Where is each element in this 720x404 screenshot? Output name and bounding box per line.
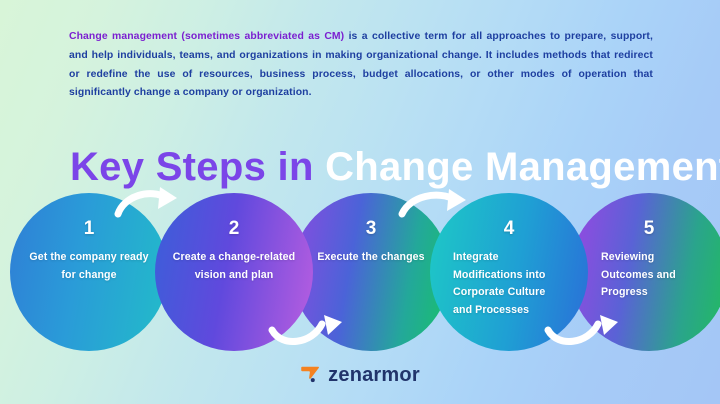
infographic-canvas: Change management (sometimes abbreviated… [0, 0, 720, 404]
step-number-3: 3 [366, 219, 377, 239]
step-label-1: Get the company ready for change [26, 249, 152, 284]
step-circle-1[interactable]: 1 Get the company ready for change [10, 193, 168, 351]
step-number-5: 5 [644, 219, 655, 239]
step-label-3: Execute the changes [308, 249, 434, 267]
zenarmor-mark-icon [300, 364, 321, 385]
step-label-4: Integrate Modifications into Corporate C… [453, 249, 565, 319]
title-part-white: Change Management [325, 145, 720, 189]
step-label-5: Reviewing Outcomes and Progress [601, 249, 697, 302]
step-circle-4[interactable]: 4 Integrate Modifications into Corporate… [430, 193, 588, 351]
step-label-2: Create a change-related vision and plan [171, 249, 297, 284]
step-circle-5[interactable]: 5 Reviewing Outcomes and Progress [570, 193, 720, 351]
intro-lead-phrase: Change management (sometimes abbreviated… [69, 31, 344, 42]
page-title: Key Steps in Change Management [70, 145, 720, 189]
step-circle-2[interactable]: 2 Create a change-related vision and pla… [155, 193, 313, 351]
step-number-4: 4 [504, 219, 515, 239]
steps-row: 1 Get the company ready for change 2 Cre… [0, 190, 720, 355]
step-number-2: 2 [229, 219, 240, 239]
step-number-1: 1 [84, 219, 95, 239]
intro-paragraph: Change management (sometimes abbreviated… [69, 28, 653, 102]
brand-logo: zenarmor [0, 364, 720, 385]
step-circle-3[interactable]: 3 Execute the changes [292, 193, 450, 351]
zenarmor-wordmark: zenarmor [328, 365, 420, 385]
title-part-accent: Key Steps in [70, 145, 325, 189]
